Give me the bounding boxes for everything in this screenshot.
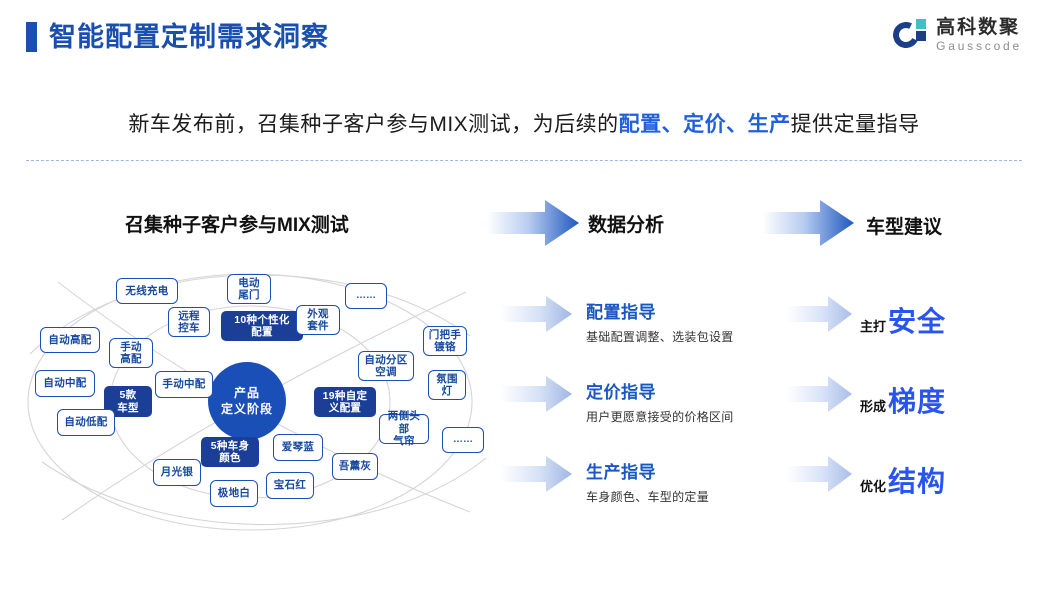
title-text: 智能配置定制需求洞察 [49,24,329,51]
center-line-2: 定义阶段 [221,401,273,417]
mindmap-node-ambient-light[interactable]: 氛围灯 [428,370,466,400]
column-header-analysis: 数据分析 [588,210,664,237]
recommend-key-1: 安全 [888,300,946,340]
node-label: 门把手 [429,329,461,341]
analysis-sub-1: 基础配置调整、选装包设置 [586,328,734,345]
subtitle-part2: 提供定量指导 [791,113,920,136]
mindmap-badge-custom-config[interactable]: 19种自定 义配置 [314,387,376,417]
node-label: 自动分区 [364,354,407,366]
logo-name-cn: 高科数聚 [936,18,1022,37]
analysis-title-3: 生产指导 [586,458,709,483]
mindmap-node-polar-white[interactable]: 极地白 [210,480,258,507]
mindmap-node-auto-mid[interactable]: 自动中配 [35,370,95,397]
subtitle-part1: 新车发布前，召集种子客户参与MIX测试，为后续的 [128,113,618,136]
badge-line-2: 颜色 [219,452,241,464]
recommend-key-3: 结构 [888,460,946,500]
node-label: 吾薰灰 [339,460,371,472]
recommend-row-1[interactable]: 主打 安全 [860,300,946,340]
node-label: 手动 [120,341,142,353]
node-label: 极地白 [218,487,250,499]
badge-line-1: 19种自定 [323,390,368,402]
analysis-sub-3: 车身颜色、车型的定量 [586,488,709,505]
badge-line-2: 义配置 [329,402,361,414]
mindmap-node-chrome-handle[interactable]: 门把手镀铬 [423,326,467,356]
recommend-row-3[interactable]: 优化 结构 [860,460,946,500]
analysis-row-3[interactable]: 生产指导 车身颜色、车型的定量 [586,458,709,505]
subtitle: 新车发布前，召集种子客户参与MIX测试，为后续的配置、定价、生产提供定量指导 [0,108,1048,138]
section-divider [26,160,1022,161]
node-label-2: 尾门 [238,289,260,301]
mindmap-node-exterior-kit[interactable]: 外观套件 [296,305,340,335]
mindmap-node-wireless-charging[interactable]: 无线充电 [116,278,178,304]
node-label-2: 高配 [120,353,142,365]
arrow-icon-row-1 [500,295,572,333]
title-accent-bar [26,22,37,52]
arrow-icon-top-right [762,198,854,248]
node-label: 自动低配 [64,416,107,428]
mindmap-node-power-tailgate[interactable]: 电动尾门 [227,274,271,304]
recommend-key-2: 梯度 [888,380,946,420]
arrow-icon-right-3 [786,455,852,493]
node-label: 手动中配 [162,378,205,390]
badge-line-1: 5种车身 [211,440,250,452]
slide-root: 智能配置定制需求洞察 高科数聚 Gausscode 新车发布前，召集种子客户参与… [0,0,1048,589]
recommend-row-2[interactable]: 形成 梯度 [860,380,946,420]
recommend-prefix-1: 主打 [860,316,886,335]
badge-line-1: 10种个性化 [234,314,289,326]
arrow-icon-top-left [487,198,579,248]
node-label: 外观 [307,308,329,320]
mindmap-center: 产品 定义阶段 [208,362,286,440]
node-label: 自动中配 [43,377,86,389]
arrow-icon-right-2 [786,375,852,413]
mindmap-node-auto-high[interactable]: 自动高配 [40,327,100,353]
mindmap-node-ellipsis-top[interactable]: …… [345,283,387,309]
node-label-2: 镀铬 [434,341,456,353]
mindmap-node-ellipsis-right[interactable]: …… [442,427,484,453]
node-label-2: 空调 [375,366,397,378]
node-label-2: 控车 [178,322,200,334]
page-title: 智能配置定制需求洞察 [26,22,329,52]
arrow-icon-right-1 [786,295,852,333]
arrow-icon-row-2 [500,375,572,413]
mindmap-node-aegean-blue[interactable]: 爱琴蓝 [273,434,323,461]
badge-line-1: 5款 [120,389,137,401]
recommend-prefix-2: 形成 [860,396,886,415]
mindmap-node-dual-zone-ac[interactable]: 自动分区空调 [358,351,414,381]
node-label: 爱琴蓝 [282,441,314,453]
mindmap-node-ruby-red[interactable]: 宝石红 [266,472,314,499]
node-label-2: 套件 [307,320,329,332]
analysis-row-2[interactable]: 定价指导 用户更愿意接受的价格区间 [586,378,734,425]
badge-line-2: 配置 [251,326,273,338]
brand-logo: 高科数聚 Gausscode [893,18,1022,52]
node-label: 自动高配 [48,334,91,346]
mindmap-node-manual-mid[interactable]: 手动中配 [155,371,213,398]
analysis-title-2: 定价指导 [586,378,734,403]
mindmap-badge-body-colors[interactable]: 5种车身 颜色 [201,437,259,467]
node-label-2: 气帘 [393,435,415,447]
node-label: 月光银 [161,466,193,478]
analysis-title-1: 配置指导 [586,298,734,323]
node-label: 无线充电 [125,285,168,297]
analysis-row-1[interactable]: 配置指导 基础配置调整、选装包设置 [586,298,734,345]
logo-name-en: Gausscode [936,40,1022,52]
node-label: 氛围 [436,373,458,385]
node-label: 宝石红 [274,479,306,491]
center-line-1: 产品 [234,385,260,401]
mindmap-node-auto-low[interactable]: 自动低配 [57,409,115,436]
mindmap-node-side-curtain-airbag[interactable]: 两侧头部气帘 [379,414,429,444]
mindmap: 产品 定义阶段 10种个性化 配置 5款 车型 19种自定 义配置 5种车身 颜… [18,262,498,534]
badge-line-2: 车型 [117,402,139,414]
mindmap-node-manual-high[interactable]: 手动高配 [109,338,153,368]
mindmap-node-remote-control[interactable]: 远程控车 [168,307,210,337]
arrow-icon-row-3 [500,455,572,493]
node-label-2: 灯 [442,385,453,397]
recommend-prefix-3: 优化 [860,476,886,495]
mindmap-node-lavender-grey[interactable]: 吾薰灰 [332,453,378,480]
node-label: 远程 [178,310,200,322]
node-label: …… [453,434,473,446]
subtitle-highlight: 配置、定价、生产 [619,113,791,136]
mindmap-node-moonlight-silver[interactable]: 月光银 [153,459,201,486]
gausscode-logo-icon [893,18,927,52]
node-label: 电动 [238,277,260,289]
node-label: …… [356,290,376,302]
mindmap-badge-personalization[interactable]: 10种个性化 配置 [221,311,303,341]
column-header-mix: 召集种子客户参与MIX测试 [125,210,349,237]
analysis-sub-2: 用户更愿意接受的价格区间 [586,408,734,425]
column-header-recommend: 车型建议 [866,212,942,239]
node-label: 两侧头部 [383,410,425,435]
